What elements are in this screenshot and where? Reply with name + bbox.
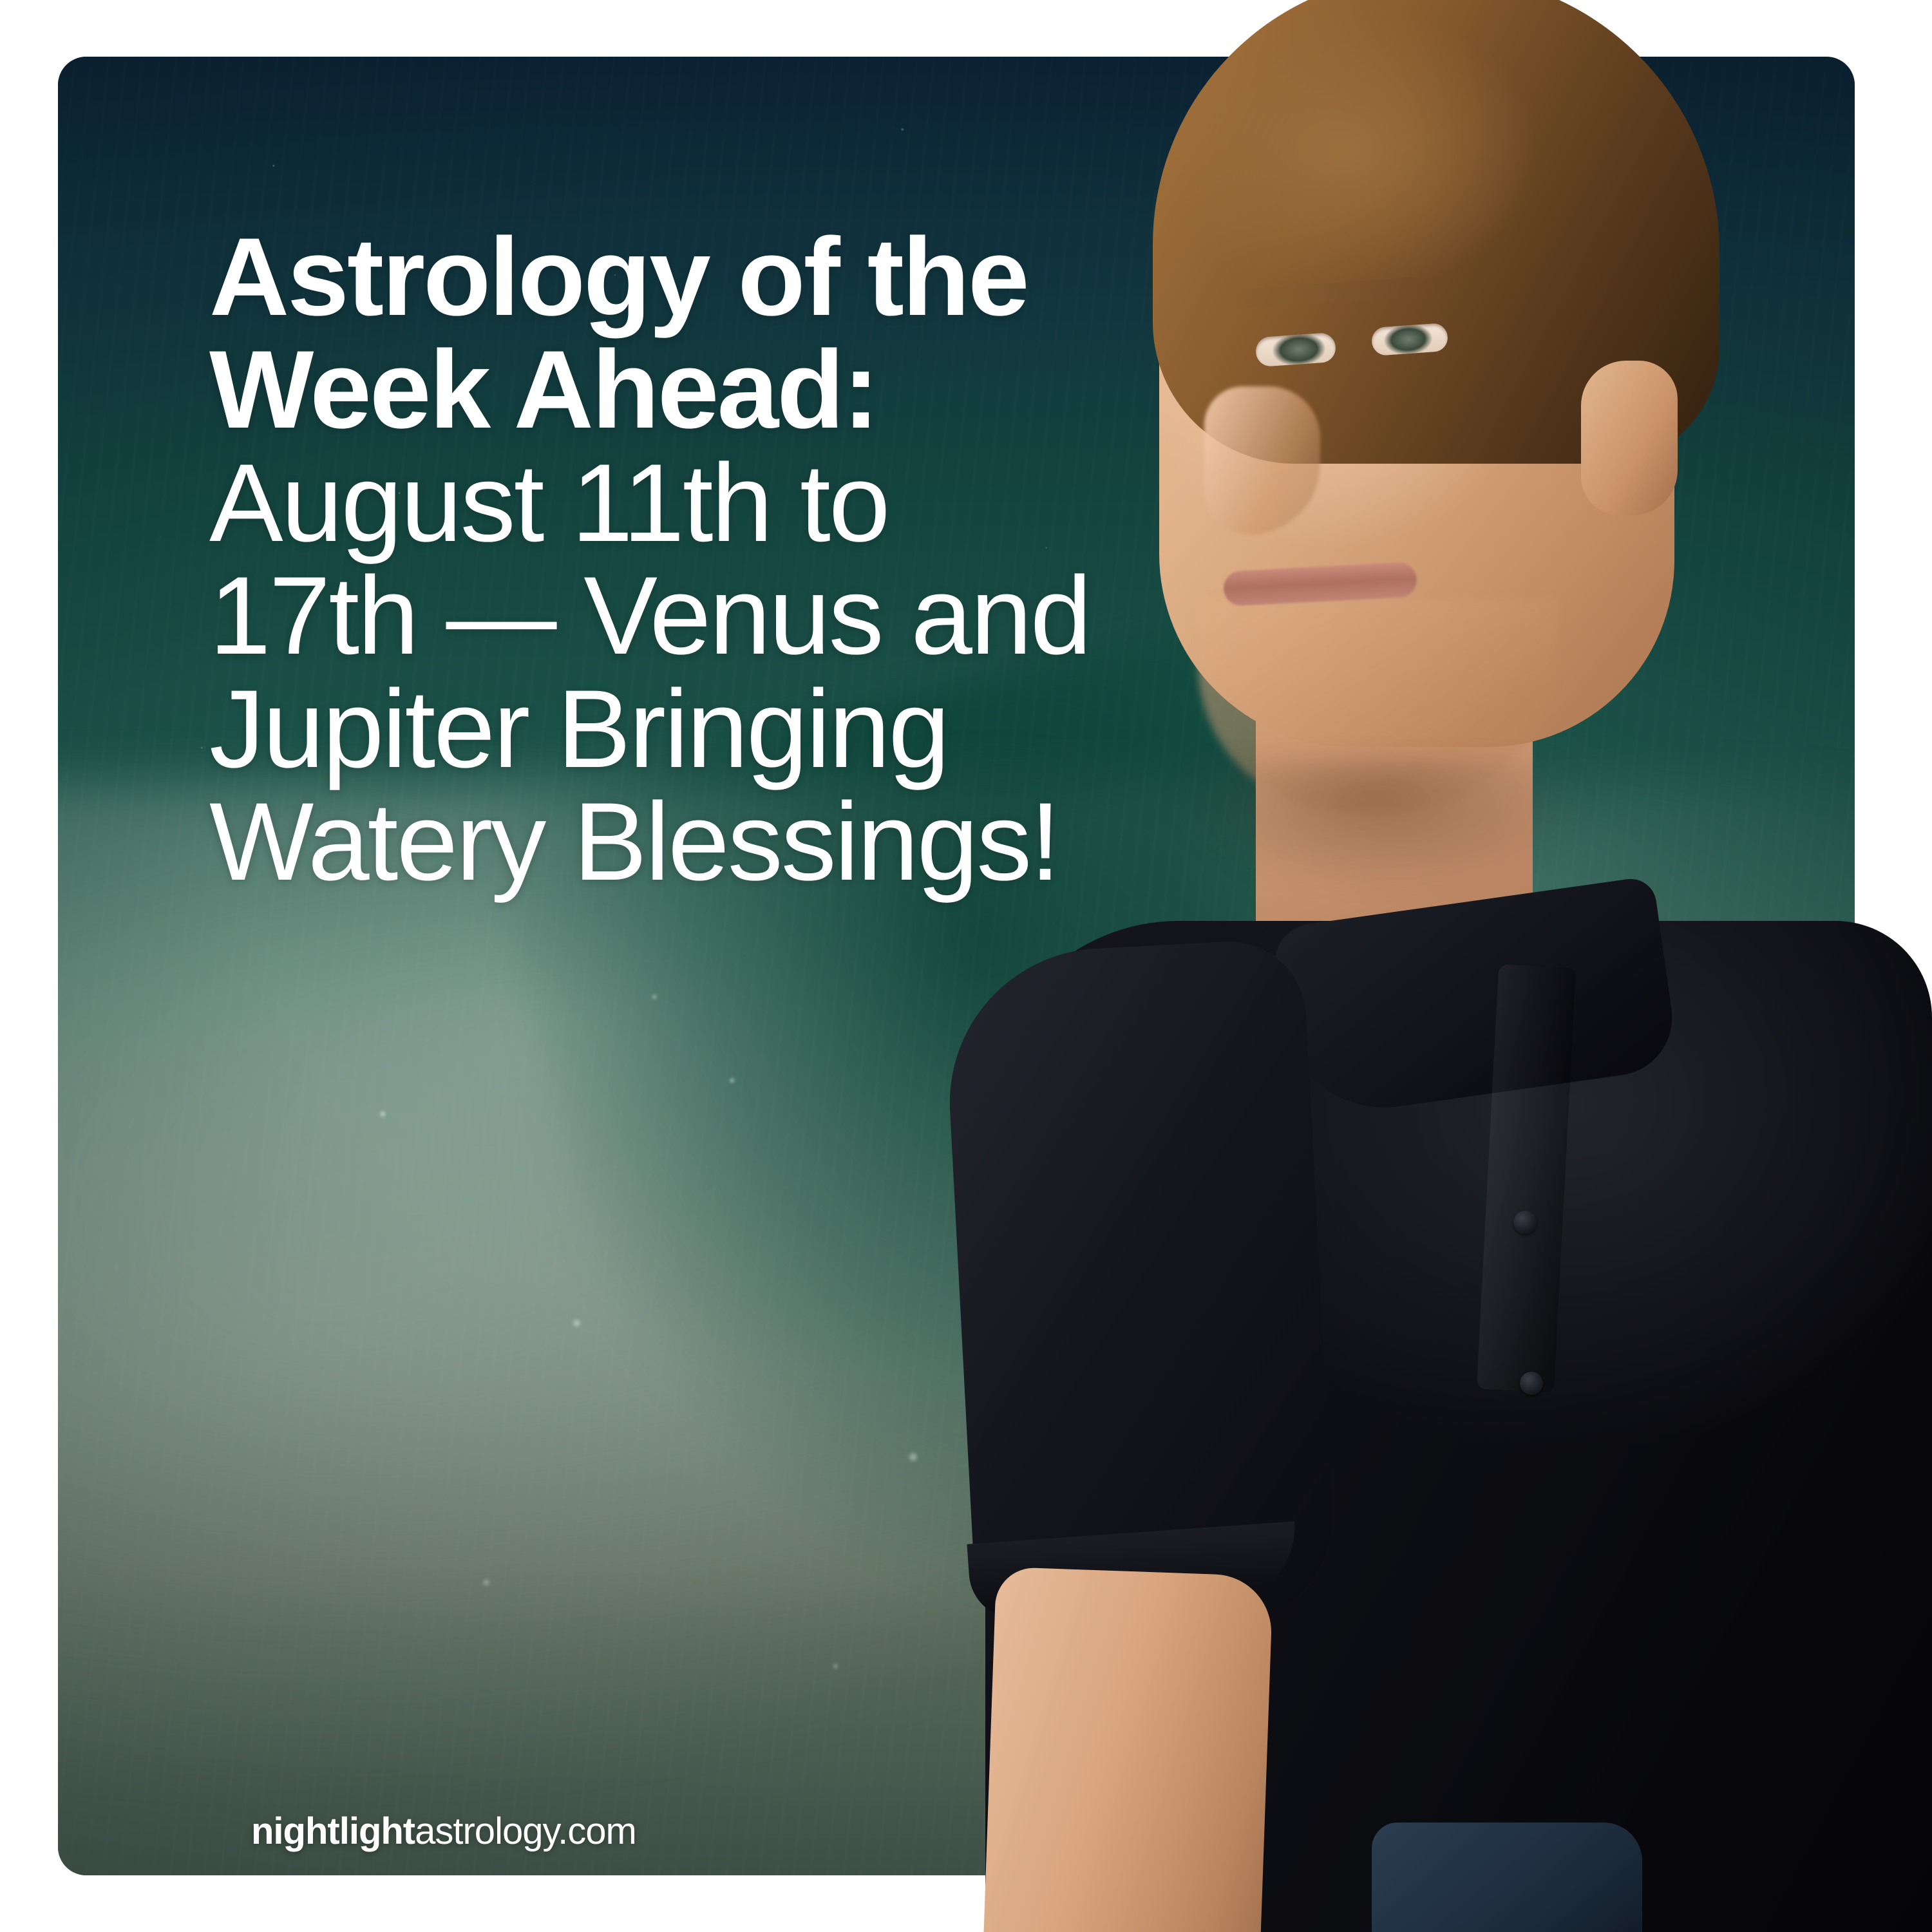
portrait-jeans: [1372, 1823, 1642, 1932]
portrait-eye-far: [1371, 323, 1449, 356]
portrait-button-top: [1513, 1211, 1537, 1234]
brand-wordmark[interactable]: nightlightastrology.com: [251, 1810, 636, 1853]
portrait-ear: [1581, 361, 1678, 515]
portrait-neck-shadow: [1133, 760, 1623, 966]
brand-light-part: astrology.com: [415, 1810, 636, 1852]
portrait-forearm: [981, 1567, 1273, 1932]
portrait-eye-near: [1255, 332, 1337, 368]
brand-bold-part: nightlight: [251, 1810, 415, 1852]
portrait-subject: [921, 0, 1932, 1932]
portrait-button-lower: [1520, 1372, 1543, 1395]
poster-canvas: Astrology of the Week Ahead: August 11th…: [0, 0, 1932, 1932]
